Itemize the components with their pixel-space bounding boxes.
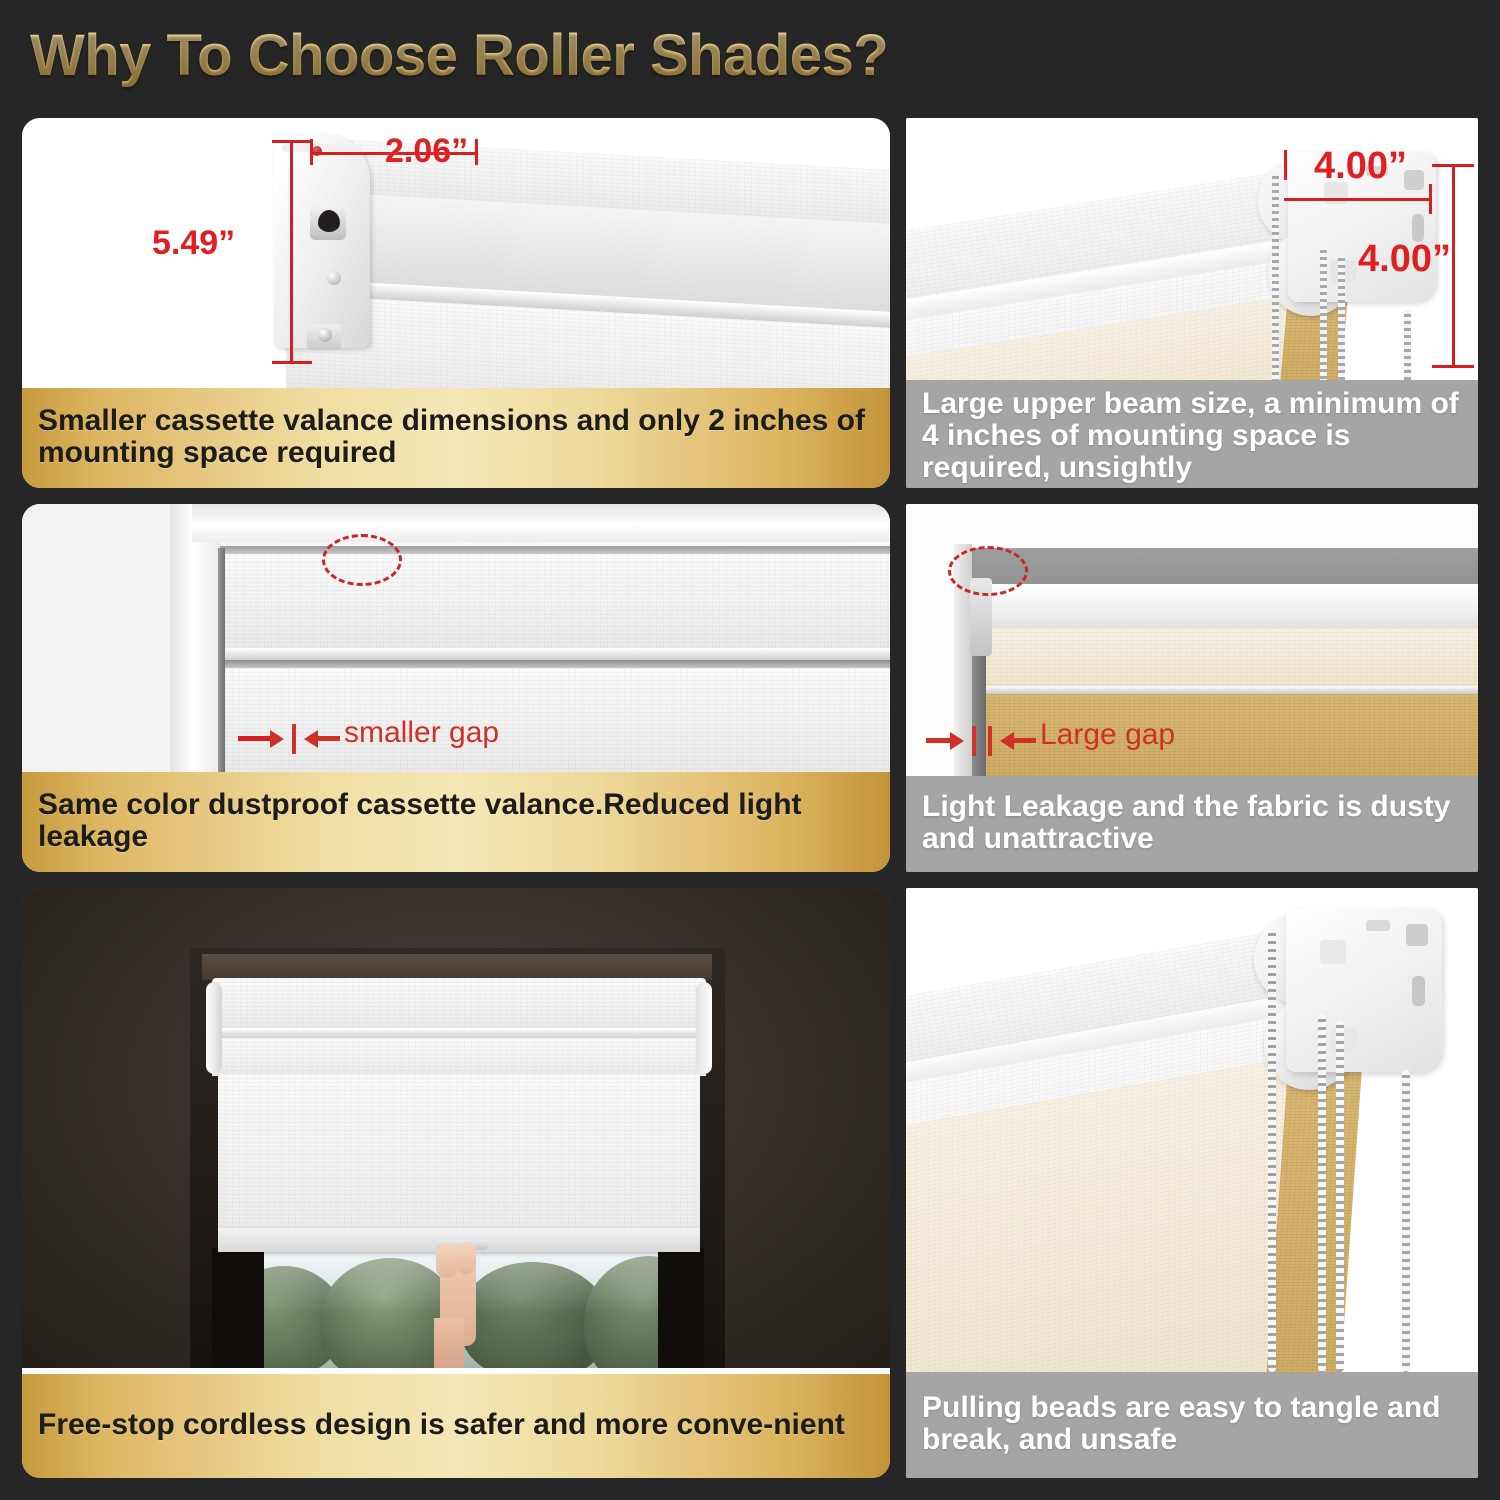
caption-text: Large upper beam size, a minimum of 4 in… (922, 388, 1462, 484)
panel-image-room (22, 888, 890, 1368)
dimension-label-height: 4.00” (1358, 238, 1451, 281)
panel-pro-cassette-size: 2.06” 5.49” Smaller cassette valance dim… (22, 118, 890, 488)
gap-arrow-right-line (318, 736, 340, 741)
dim-tick-left (1284, 150, 1287, 180)
infographic-root: Why To Choose Roller Shades? 2.06” (0, 0, 1500, 1500)
caption-bar-pro-dustproof-valance: Same color dustproof cassette valance.Re… (22, 772, 890, 872)
highlight-ellipse (322, 534, 402, 586)
gap-label: smaller gap (344, 716, 499, 750)
panel-pro-cordless-design: Free-stop cordless design is safer and m… (22, 888, 890, 1478)
dim-tick-bottom (1432, 365, 1474, 368)
caption-text: Light Leakage and the fabric is dusty an… (922, 791, 1462, 855)
gap-label: Large gap (1040, 718, 1175, 752)
gap-arrow-left-line (238, 736, 272, 741)
panel-image-cassette: 2.06” 5.49” (22, 118, 890, 390)
dim-line-height (290, 140, 293, 364)
caption-bar-pro-cordless-design: Free-stop cordless design is safer and m… (22, 1374, 890, 1478)
caption-bar-con-light-leakage: Light Leakage and the fabric is dusty an… (906, 776, 1478, 872)
gap-arrow-left-head (950, 732, 964, 750)
dimension-label-height: 5.49” (152, 224, 235, 263)
page-title: Why To Choose Roller Shades? (30, 22, 888, 89)
gap-arrow-right-head (304, 730, 318, 748)
gap-arrow-right-line (1014, 738, 1036, 743)
caption-text: Pulling beads are easy to tangle and bre… (922, 1392, 1462, 1456)
gap-tick-b (988, 726, 992, 756)
caption-bar-pro-cassette-size: Smaller cassette valance dimensions and … (22, 388, 890, 488)
panel-con-pulling-beads: Pulling beads are easy to tangle and bre… (906, 888, 1478, 1478)
gap-arrow-left-head (270, 730, 284, 748)
caption-text: Same color dustproof cassette valance.Re… (38, 789, 874, 853)
panel-image-beads (906, 888, 1478, 1372)
caption-bar-con-beam-size: Large upper beam size, a minimum of 4 in… (906, 380, 1478, 488)
dim-line-height (1452, 164, 1455, 368)
gap-arrow-left-line (926, 738, 952, 743)
panel-image-light-leak: Large gap (906, 504, 1478, 776)
highlight-ellipse (948, 546, 1028, 596)
dim-tick-right (475, 139, 478, 165)
dimension-label-width: 2.06” (385, 132, 468, 171)
dim-tick-top (272, 140, 312, 143)
panel-image-valance: smaller gap (22, 504, 890, 772)
caption-text: Free-stop cordless design is safer and m… (38, 1409, 845, 1441)
panel-pro-dustproof-valance: smaller gap Same color dustproof cassett… (22, 504, 890, 872)
dim-tick-bottom (272, 361, 312, 364)
panel-con-beam-size: 4.00” 4.00” Large upper beam size, a min… (906, 118, 1478, 488)
gap-arrow-right-head (1000, 732, 1014, 750)
dimension-label-width: 4.00” (1314, 145, 1407, 188)
caption-text: Smaller cassette valance dimensions and … (38, 405, 874, 469)
panel-image-beam: 4.00” 4.00” (906, 118, 1478, 396)
gap-tick-a (972, 726, 976, 756)
dim-tick-right (1429, 184, 1432, 214)
panel-con-light-leakage: Large gap Light Leakage and the fabric i… (906, 504, 1478, 872)
caption-bar-con-pulling-beads: Pulling beads are easy to tangle and bre… (906, 1372, 1478, 1478)
gap-tick (292, 724, 296, 754)
dim-line-width (1284, 198, 1432, 201)
dim-tick-top (1432, 164, 1474, 167)
